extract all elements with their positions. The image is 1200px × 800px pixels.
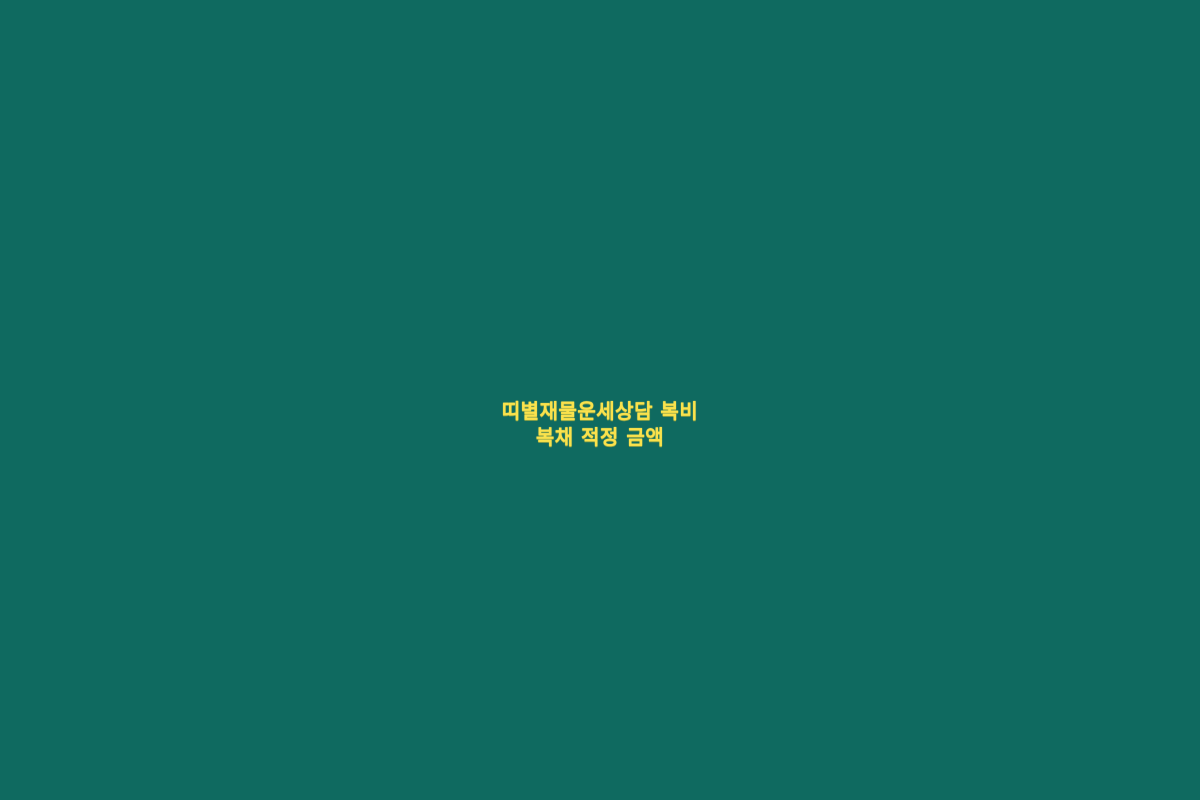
headline-block: 띠별재물운세상담 복비 복채 적정 금액	[0, 398, 1200, 450]
headline-line-2: 복채 적정 금액	[0, 424, 1200, 450]
banner-canvas: 띠별재물운세상담 복비 복채 적정 금액	[0, 0, 1200, 800]
headline-line-1: 띠별재물운세상담 복비	[0, 398, 1200, 424]
